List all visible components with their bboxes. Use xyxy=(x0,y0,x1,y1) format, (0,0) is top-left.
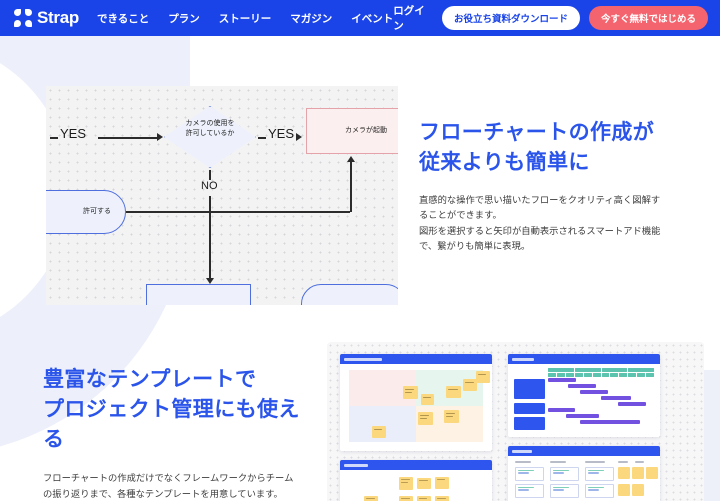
matrix-sticky-note xyxy=(403,386,418,399)
board-sticky-note xyxy=(364,496,378,501)
flow-dash-right xyxy=(258,137,266,139)
nav-item-plan[interactable]: プラン xyxy=(168,11,200,26)
templates-heading-line-2: プロジェクト管理にも使え xyxy=(43,395,333,425)
flow-label-yes-left: YES xyxy=(60,126,86,141)
table-card-titlebar xyxy=(508,446,660,456)
matrix-axis-bottom-label: ▬▬ xyxy=(400,450,405,451)
gantt-card-titlebar xyxy=(508,354,660,364)
decision-line-1: カメラの使用を xyxy=(164,119,256,129)
gantt-bar xyxy=(601,396,631,400)
table-tag xyxy=(646,467,658,479)
nav-item-features[interactable]: できること xyxy=(97,11,149,26)
table-tag xyxy=(618,467,630,479)
templates-heading-line-3: る xyxy=(43,425,333,455)
flow-node-decision-label: カメラの使用を 許可しているか xyxy=(164,119,256,139)
brand-name: Strap xyxy=(37,8,79,28)
flowchart-body-line-4: で、繋がりも簡単に表現。 xyxy=(419,239,694,255)
template-gallery: ▬▬ ▬▬ xyxy=(327,342,704,501)
flowchart-body-line-3: 図形を選択すると矢印が自動表示されるスマートアド機能 xyxy=(419,224,694,240)
gantt-bar xyxy=(618,402,646,406)
table-card-title-placeholder xyxy=(512,450,532,453)
templates-copy-block: 豊富なテンプレートで プロジェクト管理にも使え る フローチャートの作成だけでな… xyxy=(43,365,333,501)
table-cell xyxy=(515,484,544,498)
gantt-bar xyxy=(580,390,608,394)
table-card-body xyxy=(508,456,660,501)
board-template-card[interactable] xyxy=(340,460,492,501)
download-materials-button[interactable]: お役立ち資料ダウンロード xyxy=(442,6,580,30)
matrix-sticky-note xyxy=(418,412,433,425)
flowchart-heading-line-2: 従来よりも簡単に xyxy=(419,148,694,178)
table-cell xyxy=(550,467,579,481)
board-sticky-note xyxy=(399,477,413,490)
nav-item-magazine[interactable]: マガジン xyxy=(290,11,332,26)
flow-arrowhead-to-diamond xyxy=(157,133,163,141)
flow-line-no-down xyxy=(209,196,211,280)
flow-node-bottom-right xyxy=(301,284,398,305)
matrix-sticky-note xyxy=(476,371,490,383)
table-column-header xyxy=(585,461,605,463)
flow-node-camera-label: カメラが起動 xyxy=(345,126,387,136)
templates-body-line-1: フローチャートの作成だけでなくフレームワークからチーム xyxy=(43,471,333,487)
flow-label-no: NO xyxy=(201,180,218,192)
top-navigation-bar: Strap できること プラン ストーリー マガジン イベント ログイン お役立… xyxy=(0,0,720,36)
landing-page: Strap できること プラン ストーリー マガジン イベント ログイン お役立… xyxy=(0,0,720,501)
clover-logo-icon xyxy=(14,9,32,27)
flow-line-yes-to-diamond xyxy=(98,137,158,139)
login-link[interactable]: ログイン xyxy=(393,3,433,33)
gantt-rows xyxy=(508,377,660,431)
nav-links: できること プラン ストーリー マガジン イベント xyxy=(97,11,393,26)
flowchart-body-line-1: 直感的な操作で思い描いたフローをクオリティ高く図解す xyxy=(419,193,694,209)
table-column-header xyxy=(635,461,644,463)
flow-node-permit-label: 許可する xyxy=(83,207,111,217)
matrix-sticky-note xyxy=(372,426,386,438)
table-column-header xyxy=(550,461,566,463)
flow-node-camera: カメラが起動 xyxy=(306,108,398,154)
board-card-title-placeholder xyxy=(344,464,368,467)
decision-line-2: 許可しているか xyxy=(164,129,256,139)
templates-heading-line-1: 豊富なテンプレートで xyxy=(43,365,333,395)
board-sticky-note xyxy=(435,496,449,501)
table-tag xyxy=(632,484,644,496)
table-cell xyxy=(585,484,614,498)
matrix-template-card[interactable]: ▬▬ ▬▬ xyxy=(340,354,492,451)
board-sticky-note xyxy=(435,477,449,489)
matrix-sticky-note xyxy=(463,379,477,391)
start-free-button[interactable]: 今すぐ無料ではじめる xyxy=(589,6,708,30)
matrix-quadrants xyxy=(349,370,483,442)
matrix-sticky-note xyxy=(446,386,461,398)
flow-dash-left xyxy=(50,137,58,139)
nav-item-story[interactable]: ストーリー xyxy=(219,11,272,26)
flow-line-permit-right xyxy=(126,211,350,213)
table-template-card[interactable] xyxy=(508,446,660,501)
table-column-header xyxy=(618,461,628,463)
board-sticky-note xyxy=(417,478,431,489)
flow-arrowhead-to-camera xyxy=(296,133,302,141)
matrix-card-titlebar xyxy=(340,354,492,364)
gantt-row-label xyxy=(514,379,545,399)
templates-heading: 豊富なテンプレートで プロジェクト管理にも使え る xyxy=(43,365,333,454)
flowchart-body: 直感的な操作で思い描いたフローをクオリティ高く図解す ることができます。 図形を… xyxy=(419,193,694,255)
flowchart-heading-line-1: フローチャートの作成が xyxy=(419,118,694,148)
board-card-titlebar xyxy=(340,460,492,470)
gantt-template-card[interactable] xyxy=(508,354,660,437)
matrix-card-title-placeholder xyxy=(344,358,382,361)
flow-node-bottom-left xyxy=(146,284,251,305)
flow-arrowhead-up-camera xyxy=(347,156,355,162)
table-tag xyxy=(632,467,644,479)
gantt-bar xyxy=(548,408,575,412)
nav-item-event[interactable]: イベント xyxy=(351,11,393,26)
flow-line-up-to-camera xyxy=(350,162,352,212)
flow-label-yes-right: YES xyxy=(268,126,294,141)
table-column-header xyxy=(515,461,531,463)
flowchart-body-line-2: ることができます。 xyxy=(419,208,694,224)
table-tag xyxy=(618,484,630,496)
gantt-bar xyxy=(568,384,596,388)
matrix-sticky-note xyxy=(444,410,459,423)
board-card-body xyxy=(340,470,492,501)
nav-actions: ログイン お役立ち資料ダウンロード 今すぐ無料ではじめる xyxy=(393,3,708,33)
gantt-card-body xyxy=(508,368,660,431)
brand-logo[interactable]: Strap xyxy=(14,8,79,28)
gantt-card-title-placeholder xyxy=(512,358,534,361)
gantt-row-label xyxy=(514,403,545,414)
board-sticky-note xyxy=(417,496,431,501)
board-sticky-note xyxy=(399,496,413,501)
gantt-bar xyxy=(548,378,576,382)
templates-body-line-2: の振り返りまで、各種なテンプレートを用意しています。 xyxy=(43,487,333,501)
flowchart-heading: フローチャートの作成が 従来よりも簡単に xyxy=(419,118,694,178)
gantt-header-row-1 xyxy=(548,368,654,372)
gantt-bar xyxy=(580,420,640,424)
flowchart-copy-block: フローチャートの作成が 従来よりも簡単に 直感的な操作で思い描いたフローをクオリ… xyxy=(419,118,694,255)
flow-dash-no xyxy=(209,170,211,180)
matrix-sticky-note xyxy=(421,394,434,405)
gantt-row-label xyxy=(514,417,545,430)
flow-node-permit: 許可する xyxy=(46,190,126,234)
templates-body: フローチャートの作成だけでなくフレームワークからチーム の振り返りまで、各種なテ… xyxy=(43,471,333,501)
gantt-bar xyxy=(566,414,599,418)
table-cell xyxy=(550,484,579,498)
table-cell xyxy=(585,467,614,481)
matrix-card-body: ▬▬ ▬▬ xyxy=(340,370,492,442)
flowchart-canvas: YES カメラの使用を 許可しているか YES カメラが起動 NO 許可する xyxy=(46,86,398,305)
table-cell xyxy=(515,467,544,481)
